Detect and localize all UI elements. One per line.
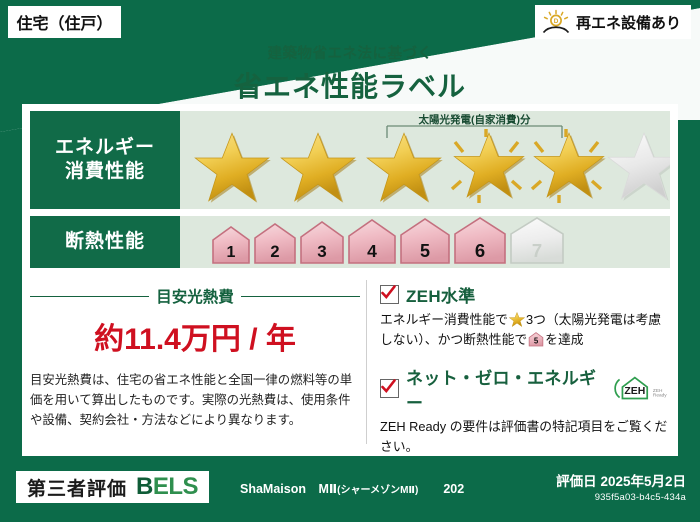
star-filled-2 [281,133,357,203]
zeh-standard-title: ZEH水準 [406,282,476,307]
insulation-grade-2: 2 [255,224,295,263]
insulation-grade-6-label: 6 [475,240,485,261]
energy-performance-label: 住宅（住戸） D 再エネ設備あり 建築物省エネ法に基づく 省エネ性能ラベル エネ… [0,0,700,522]
net-zero-energy-title: ネット・ゼロ・エネルギー [406,364,604,414]
energy-performance-row: エネルギー 消費性能 太陽光発電(自家消費)分 [30,111,670,209]
label-footer: 第三者評価 BELS ShaMaison MⅡ(シャーメゾンMⅡ) 202 評価… [0,460,700,522]
building-name-paren: (シャーメゾンMⅡ) [337,485,418,496]
insulation-grade-1-label: 1 [227,244,236,261]
renewable-energy-badge-label: 再エネ設備あり [576,12,681,33]
zeh-standard-desc-part1: エネルギー消費性能で [380,312,508,327]
star-rating-group [180,111,670,209]
star-filled-solar-5 [532,129,606,203]
net-zero-energy-checkbox[interactable] [380,379,399,398]
insulation-grade-5: 5 [401,219,449,263]
energy-label-line1: エネルギー [55,136,155,160]
zeh-standard-item: ZEH水準 エネルギー消費性能で3つ（太陽光発電は考慮しない）、かつ断熱性能で5… [380,282,670,351]
cost-rule-left [30,296,149,297]
evaluation-date-value: 2025年5月2日 [600,474,686,489]
zeh-standard-desc: エネルギー消費性能で3つ（太陽光発電は考慮しない）、かつ断熱性能で5を達成 [380,310,670,351]
insulation-grades-panel: 1 2 3 4 5 [180,216,670,268]
third-party-label: 第三者評価 [27,474,127,501]
label-title-block: 建築物省エネ法に基づく 省エネ性能ラベル [0,42,700,105]
bels-logo-els: ELS [153,473,198,500]
zeh-standard-desc-part3: を達成 [545,332,583,347]
insulation-grade-7: 7 [511,218,563,263]
house-type-tag-label: 住宅（住戸） [16,10,112,34]
zeh-standard-checkbox[interactable] [380,285,399,304]
utility-cost-value: 約11.4万円 / 年 [30,314,360,358]
star-icon [509,312,525,327]
check-icon [380,378,397,395]
energy-stars-panel: 太陽光発電(自家消費)分 [180,111,670,209]
sun-icon: D [541,9,571,35]
svg-text:5: 5 [534,337,539,346]
insulation-grade-3-label: 3 [317,242,326,261]
insulation-label-text: 断熱性能 [65,230,145,254]
bels-logo-b: B [136,473,153,500]
utility-cost-note: 目安光熱費は、住宅の省エネ性能と全国一律の燃料等の単価を用いて算出したものです。… [30,370,360,430]
label-title-main: 省エネ性能ラベル [0,65,700,105]
zeh-logo-text: ZEH [624,386,645,397]
insulation-grade-4-label: 4 [367,241,377,261]
insulation-grade-4: 4 [349,220,395,263]
star-filled-1 [195,133,271,203]
lower-section: 目安光熱費 約11.4万円 / 年 目安光熱費は、住宅の省エネ性能と全国一律の燃… [30,276,670,448]
solar-bracket [387,126,562,138]
evaluation-date-label: 評価日 [556,474,597,489]
insulation-grade-group: 1 2 3 4 5 [180,216,670,268]
zeh-logo-sub2: Ready [653,393,667,399]
evaluation-id: 935f5a03-b4c5-434a [556,492,686,503]
net-zero-energy-header: ネット・ゼロ・エネルギー ZEH ZEH Ready [380,364,670,414]
energy-label-line2: 消費性能 [65,160,145,184]
label-content-card: エネルギー 消費性能 太陽光発電(自家消費)分 [22,104,678,456]
evaluation-date-line: 評価日 2025年5月2日 [556,470,686,490]
svg-text:D: D [554,18,559,25]
utility-cost-column: 目安光熱費 約11.4万円 / 年 目安光熱費は、住宅の省エネ性能と全国一律の燃… [30,276,366,448]
unit-number: 202 [443,482,464,496]
bels-certification-box: 第三者評価 BELS [16,471,209,503]
net-zero-energy-item: ネット・ゼロ・エネルギー ZEH ZEH Ready ZEH Ready の要件… [380,364,670,458]
building-name: ShaMaison MⅡ [240,482,337,496]
insulation-row-label: 断熱性能 [30,216,180,268]
building-identification: ShaMaison MⅡ(シャーメゾンMⅡ) 202 [240,478,464,497]
house-grade-icon: 5 [528,332,544,347]
insulation-performance-row: 断熱性能 [30,216,670,268]
zeh-column: ZEH水準 エネルギー消費性能で3つ（太陽光発電は考慮しない）、かつ断熱性能で5… [367,276,670,448]
insulation-grade-6: 6 [455,218,505,263]
utility-cost-heading: 目安光熱費 [30,285,360,307]
insulation-grade-3: 3 [301,222,343,263]
net-zero-energy-desc: ZEH Ready の要件は評価書の特記項目をご覧ください。 [380,417,670,458]
insulation-grade-5-label: 5 [420,241,430,261]
star-filled-solar-4 [452,129,526,203]
star-empty-6 [608,133,670,201]
star-filled-3 [367,133,443,203]
house-type-tag: 住宅（住戸） [8,6,121,38]
bels-logo: BELS [136,473,198,501]
zeh-ready-logo: ZEH ZEH Ready [611,374,670,404]
energy-performance-row-label: エネルギー 消費性能 [30,111,180,209]
check-icon [380,284,397,301]
insulation-grade-7-label: 7 [532,240,542,261]
label-title-sub: 建築物省エネ法に基づく [0,42,700,63]
utility-cost-heading-label: 目安光熱費 [156,285,234,307]
cost-rule-right [241,296,360,297]
evaluation-info: 評価日 2025年5月2日 935f5a03-b4c5-434a [556,470,686,503]
insulation-grade-2-label: 2 [270,243,279,261]
renewable-energy-badge: D 再エネ設備あり [535,5,691,39]
zeh-standard-header: ZEH水準 [380,282,670,307]
insulation-grade-1: 1 [213,227,249,263]
